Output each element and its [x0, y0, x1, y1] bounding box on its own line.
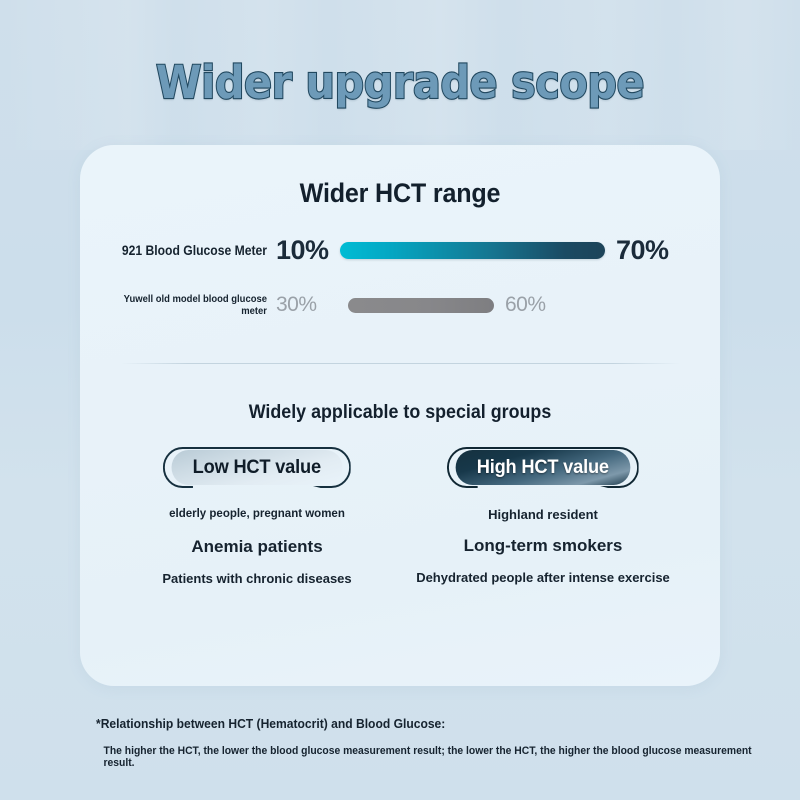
list-item: Long-term smokers [400, 536, 686, 556]
badge-high-hct: High HCT value [456, 450, 630, 485]
groups-title: Widely applicable to special groups [99, 402, 701, 424]
chart-row-new-meter: 921 Blood Glucose Meter 10% 70% [80, 235, 720, 266]
group-column-high: High HCT value Highland resident Long-te… [400, 450, 686, 586]
footnote: *Relationship between HCT (Hematocrit) a… [0, 716, 800, 769]
footnote-heading: *Relationship between HCT (Hematocrit) a… [96, 716, 751, 731]
chart-bar-fill-new-meter [340, 242, 605, 259]
hct-range-card: Wider HCT range 921 Blood Glucose Meter … [80, 145, 720, 686]
chart-bar-fill-old-meter [348, 298, 494, 313]
badge-label: High HCT value [477, 457, 609, 479]
chart-row-label: 921 Blood Glucose Meter [100, 243, 276, 258]
list-item: Highland resident [400, 507, 686, 522]
hct-range-chart: 921 Blood Glucose Meter 10% 70% Yuwell o… [80, 235, 720, 351]
chart-range-end-label: 60% [494, 293, 566, 317]
group-column-low: Low HCT value elderly people, pregnant w… [114, 450, 400, 586]
list-item: Dehydrated people after intense exercise [400, 570, 686, 585]
card-title: Wider HCT range [102, 178, 697, 209]
page-title: Wider upgrade scope [32, 56, 768, 109]
list-item: Patients with chronic diseases [114, 571, 400, 586]
chart-bar-track [340, 298, 494, 313]
badge-wrap: High HCT value [400, 450, 686, 485]
list-item: elderly people, pregnant women [114, 507, 400, 523]
chart-range-start-label: 10% [276, 235, 340, 266]
chart-row-old-meter: Yuwell old model blood glucose meter 30%… [80, 293, 720, 317]
badge-low-hct: Low HCT value [172, 450, 342, 485]
chart-row-label: Yuwell old model blood glucose meter [100, 293, 276, 317]
footnote-body: The higher the HCT, the lower the blood … [96, 745, 758, 769]
chart-range-end-label: 70% [605, 235, 677, 266]
badge-wrap: Low HCT value [114, 450, 400, 485]
chart-bar-track [340, 242, 605, 259]
section-divider [120, 363, 680, 364]
list-item: Anemia patients [114, 537, 400, 557]
badge-label: Low HCT value [193, 457, 321, 479]
groups-columns: Low HCT value elderly people, pregnant w… [80, 450, 720, 586]
chart-range-start-label: 30% [276, 293, 340, 317]
